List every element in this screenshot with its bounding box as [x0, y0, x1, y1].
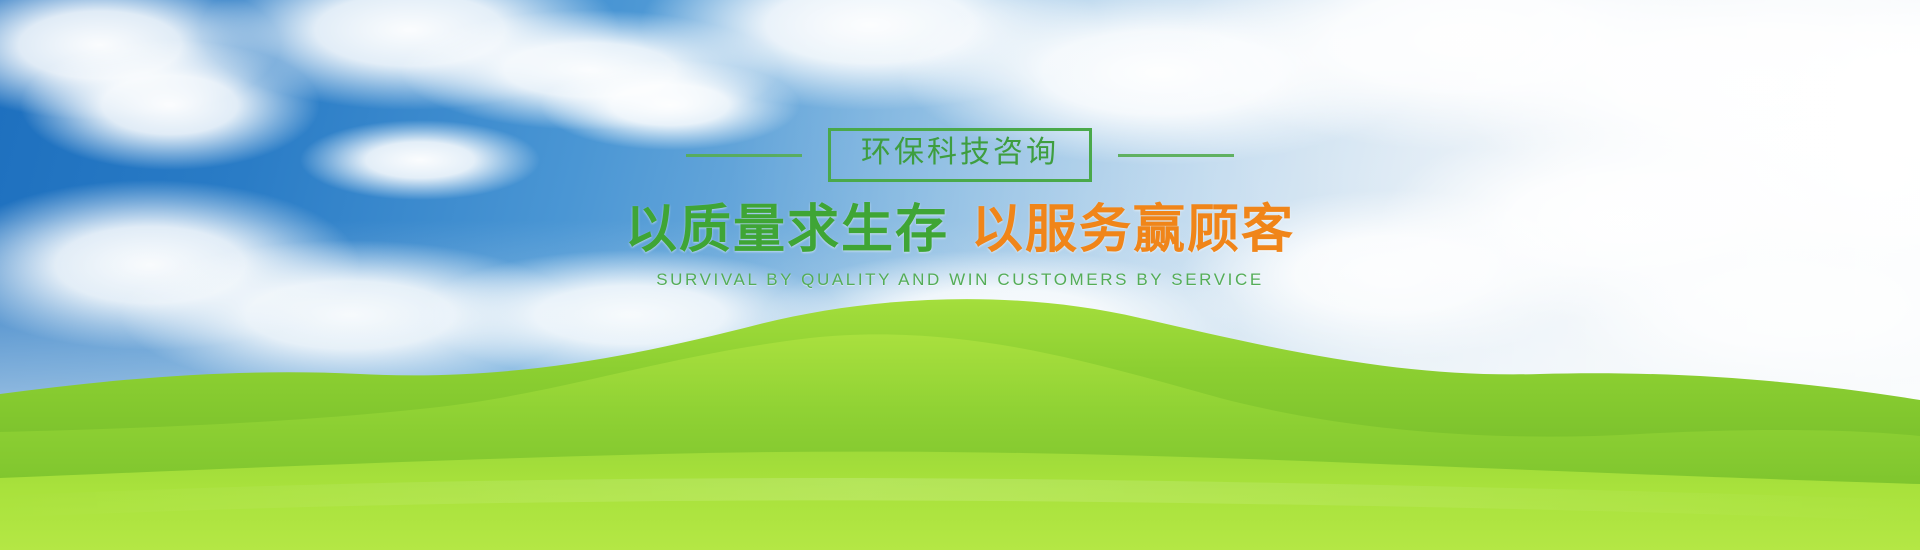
eyebrow-row: 环保科技咨询	[0, 124, 1920, 186]
hills-svg	[0, 282, 1920, 550]
eyebrow-label: 环保科技咨询	[861, 136, 1059, 169]
headline-orange-part: 以服务赢顾客	[971, 201, 1295, 259]
hero-banner: 环保科技咨询 以质量求生存以服务赢顾客 SURVIVAL BY QUALITY …	[0, 0, 1920, 550]
banner-text-overlay: 环保科技咨询 以质量求生存以服务赢顾客 SURVIVAL BY QUALITY …	[0, 124, 1920, 290]
headline: 以质量求生存以服务赢顾客	[0, 202, 1920, 258]
subline: SURVIVAL BY QUALITY AND WIN CUSTOMERS BY…	[0, 270, 1920, 290]
rule-left	[686, 154, 802, 157]
headline-green-part: 以质量求生存	[625, 201, 949, 259]
eyebrow-box: 环保科技咨询	[828, 128, 1092, 182]
rule-right	[1118, 154, 1234, 157]
grass-hills	[0, 282, 1920, 550]
